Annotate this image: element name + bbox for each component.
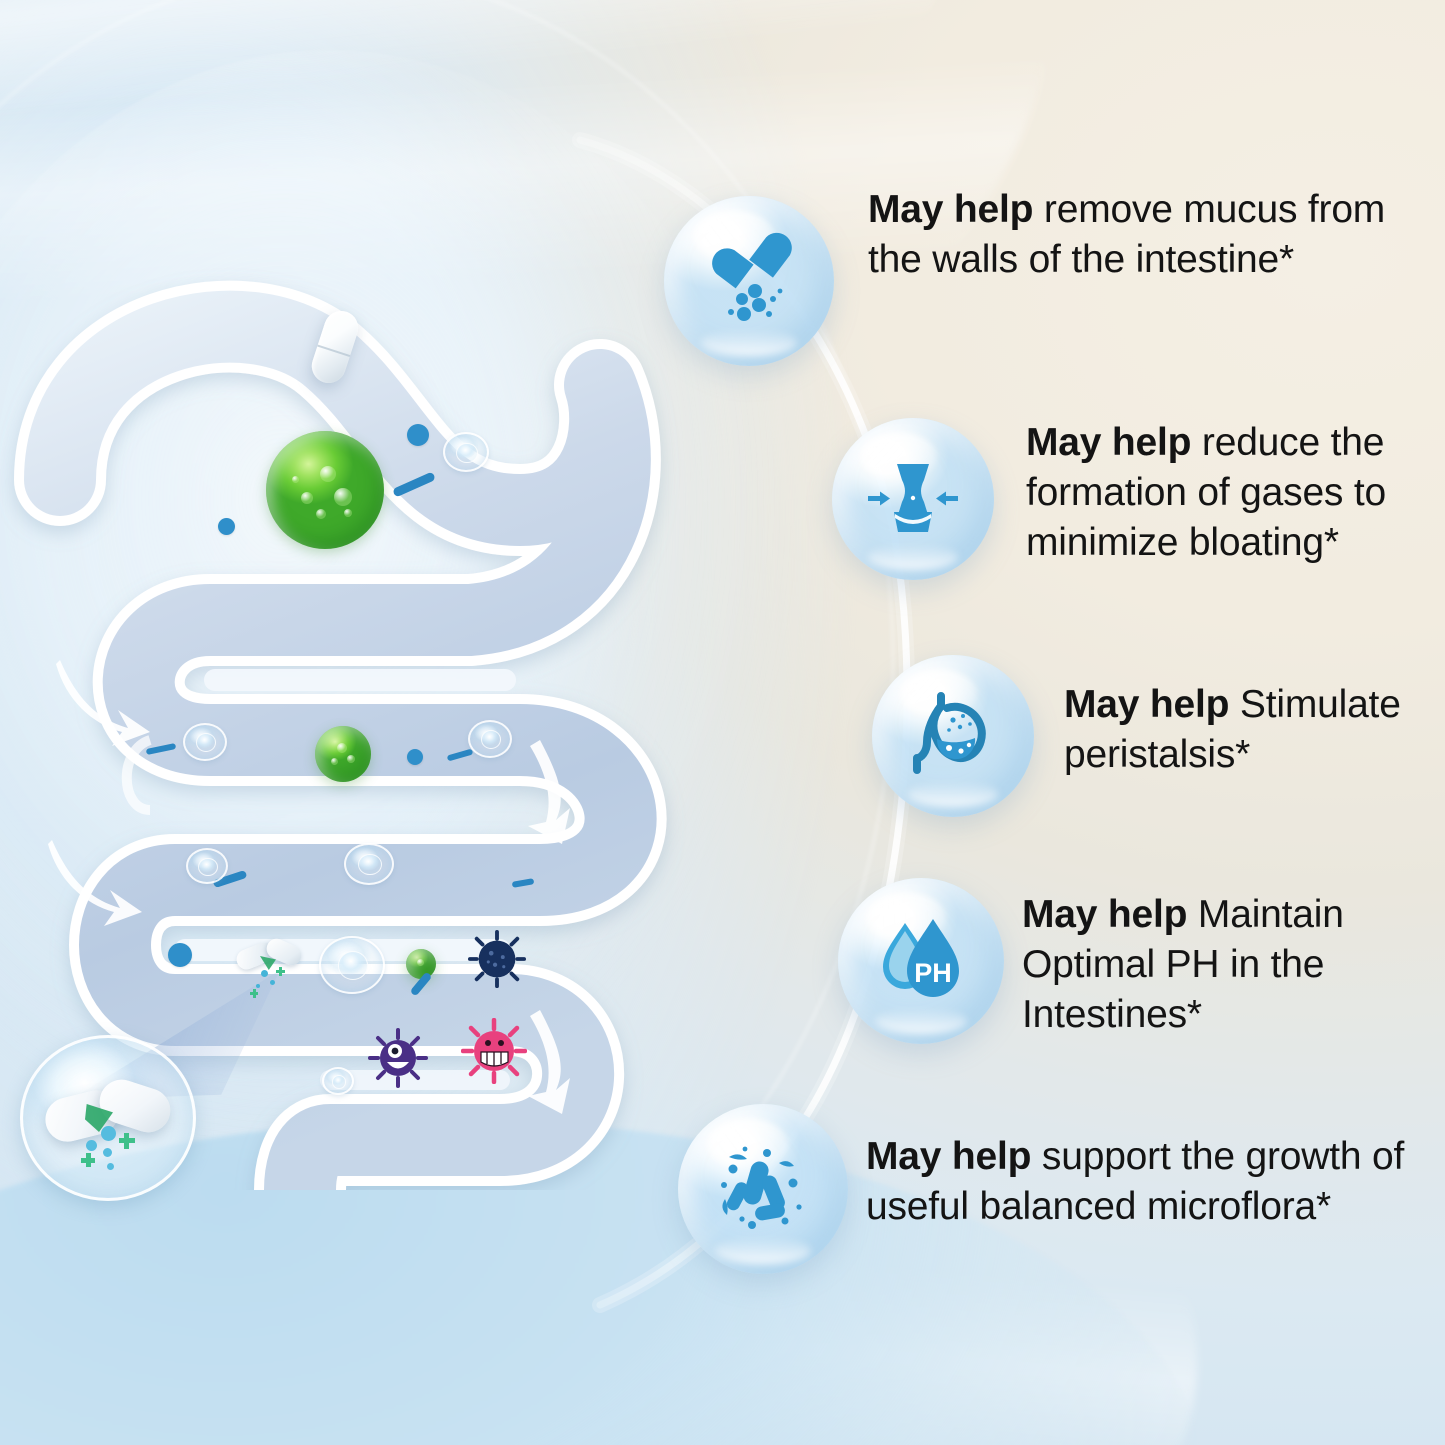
purple-one-eyed-germ — [368, 1028, 428, 1088]
bullet-bold-1: May help — [868, 188, 1033, 231]
water-droplet-bubble — [322, 1067, 354, 1095]
dark-navy-germ — [468, 930, 526, 988]
green-microbe-small — [406, 949, 436, 979]
opened-capsule-releasing-particles — [236, 940, 306, 1002]
bullet-bold-2: May help — [1026, 421, 1191, 464]
bullet-text-stimulate-peristalsis: May help Stimulate peristalsis* — [1064, 680, 1445, 780]
bullet-text-optimal-ph: May help Maintain Optimal PH in the Inte… — [1022, 890, 1422, 1040]
bullet-text-remove-mucus: May help remove mucus from the walls of … — [868, 185, 1388, 285]
digestive-tract-illustration — [0, 180, 700, 1190]
bullet-bubble-reduce-gases[interactable] — [832, 418, 994, 580]
bullet-bold-4: May help — [1022, 893, 1187, 936]
water-droplet-bubble — [344, 843, 394, 885]
slim-waist-arrows-icon — [864, 450, 962, 548]
bullet-bubble-stimulate-peristalsis[interactable] — [872, 655, 1034, 817]
water-droplet-bubble — [319, 936, 385, 994]
pink-toothy-germ — [461, 1018, 527, 1084]
blue-dot — [407, 424, 429, 446]
bullet-bold-3: May help — [1064, 683, 1229, 726]
water-droplet-bubble — [468, 720, 512, 758]
bullet-bubble-remove-mucus[interactable] — [664, 196, 834, 366]
green-bubbly-sphere-small — [315, 726, 371, 782]
blue-dot — [407, 749, 423, 765]
green-bubbly-sphere-large — [266, 431, 384, 549]
bullet-text-reduce-gases: May help reduce the formation of gases t… — [1026, 418, 1426, 568]
infographic-canvas: May help remove mucus from the walls of … — [0, 0, 1445, 1445]
stomach-icon — [903, 686, 1003, 786]
water-drop-ph-icon: PH — [869, 909, 973, 1013]
water-droplet-bubble — [186, 848, 228, 884]
blue-dot — [168, 943, 192, 967]
capsule-spill-icon — [697, 229, 801, 333]
blue-dot — [218, 518, 235, 535]
bullet-bubble-optimal-ph[interactable]: PH — [838, 878, 1004, 1044]
magnified-capsule-bubble — [20, 1035, 196, 1201]
bullet-text-microflora: May help support the growth of useful ba… — [866, 1132, 1426, 1232]
bullet-bold-5: May help — [866, 1135, 1031, 1178]
bacteria-microflora-icon — [709, 1135, 817, 1243]
bullet-bubble-microflora[interactable] — [678, 1104, 848, 1274]
water-droplet-bubble — [443, 432, 489, 472]
water-droplet-bubble — [183, 723, 227, 761]
ph-label: PH — [914, 958, 952, 988]
